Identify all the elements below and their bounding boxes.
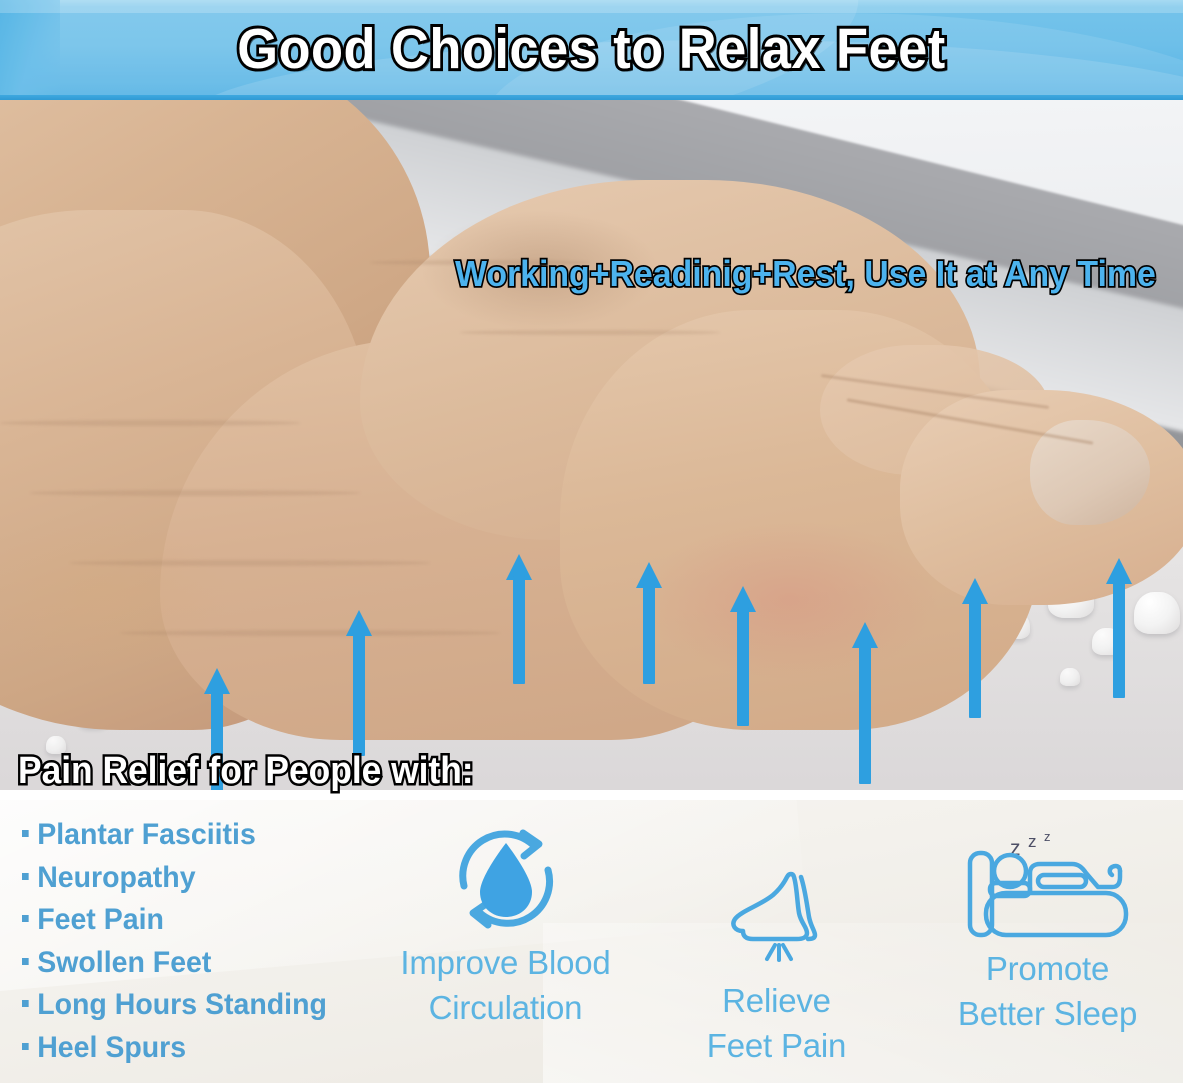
benefit-label-line1: Relieve: [652, 980, 902, 1021]
pressure-arrow: [1106, 558, 1132, 698]
benefits-section: Plantar Fasciitis Neuropathy Feet Pain S…: [0, 800, 1183, 1083]
benefit-label-line2: Better Sleep: [923, 993, 1173, 1034]
pressure-arrow: [730, 586, 756, 726]
skin-blush: [0, 520, 230, 670]
list-item-label: Plantar Fasciitis: [37, 814, 256, 857]
list-item: Heel Spurs: [22, 1027, 364, 1070]
benefit-improve-blood-circulation: Improve Blood Circulation: [381, 820, 631, 1028]
benefit-list: Improve Blood Circulation Relieve Feet P…: [370, 818, 1183, 1083]
header-banner: Good Choices to Relax Feet: [0, 0, 1183, 100]
pain-relief-heading: Pain Relief for People with:: [18, 748, 474, 794]
pressure-arrow: [962, 578, 988, 718]
pressure-arrow: [636, 562, 662, 684]
product-infographic: Good Choices to Relax Feet: [0, 0, 1183, 1083]
list-item-label: Heel Spurs: [37, 1027, 186, 1070]
pain-relief-list: Plantar Fasciitis Neuropathy Feet Pain S…: [22, 814, 382, 1069]
pressure-arrow: [506, 554, 532, 684]
water-drop-circulation-icon: [381, 820, 631, 938]
benefit-label-line2: Feet Pain: [652, 1025, 902, 1066]
benefit-label-line1: Improve Blood: [381, 942, 631, 983]
bullet-marker-icon: [22, 1043, 29, 1050]
skin-blush: [640, 520, 940, 680]
benefit-promote-better-sleep: z z z Promote Better Sleep: [923, 826, 1173, 1034]
list-item-label: Neuropathy: [37, 857, 195, 900]
list-item: Long Hours Standing: [22, 984, 364, 1027]
banner-top-strip: [0, 0, 1183, 13]
bullet-marker-icon: [22, 830, 29, 837]
list-item: Feet Pain: [22, 899, 364, 942]
list-item-label: Long Hours Standing: [37, 984, 327, 1027]
bullet-marker-icon: [22, 873, 29, 880]
benefit-label-line1: Promote: [923, 948, 1173, 989]
bullet-marker-icon: [22, 915, 29, 922]
benefit-label-line2: Circulation: [381, 987, 631, 1028]
benefit-relieve-feet-pain: Relieve Feet Pain: [652, 858, 902, 1066]
hero-subtitle: Working+Readinig+Rest, Use It at Any Tim…: [455, 252, 1141, 296]
list-item-label: Swollen Feet: [37, 942, 211, 985]
page-title: Good Choices to Relax Feet: [47, 14, 1135, 84]
product-photo: Working+Readinig+Rest, Use It at Any Tim…: [0, 100, 1183, 790]
foot-illustration: [0, 100, 1183, 730]
sleeping-person-bed-icon: z z z: [923, 826, 1173, 944]
pressure-arrow: [346, 610, 372, 756]
list-item: Swollen Feet: [22, 942, 364, 985]
foot-pain-relief-icon: [652, 858, 902, 976]
bullet-marker-icon: [22, 958, 29, 965]
bullet-marker-icon: [22, 1000, 29, 1007]
list-item: Plantar Fasciitis: [22, 814, 364, 857]
svg-text:z: z: [1044, 829, 1051, 844]
svg-text:z: z: [1028, 832, 1037, 851]
pressure-arrow: [852, 622, 878, 784]
list-item: Neuropathy: [22, 857, 364, 900]
list-item-label: Feet Pain: [37, 899, 164, 942]
